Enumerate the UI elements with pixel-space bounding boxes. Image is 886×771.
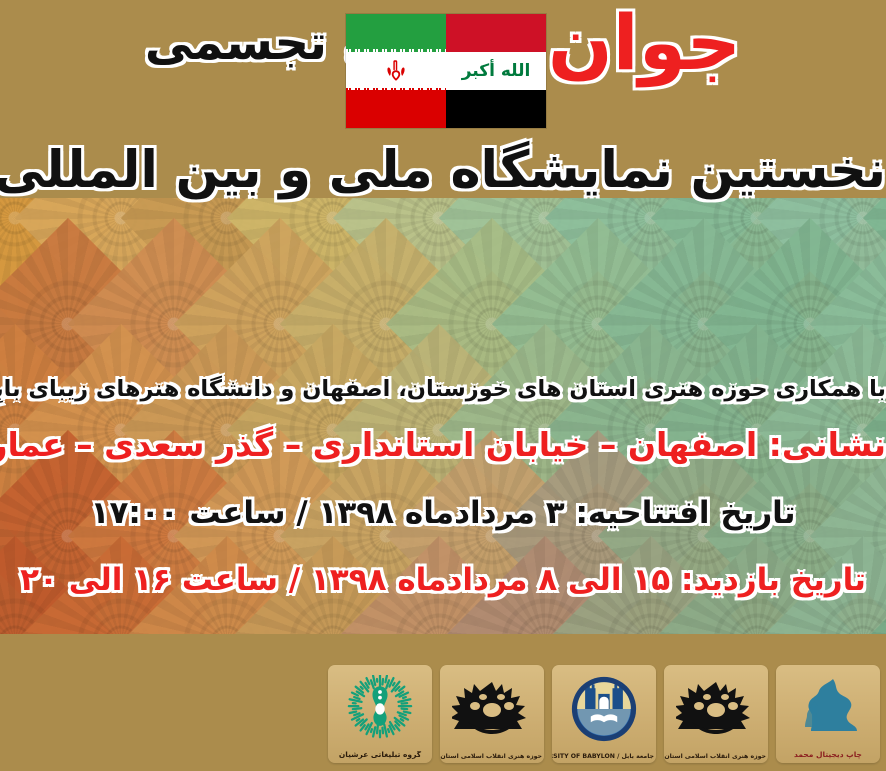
diamond-tile [545, 198, 757, 324]
logo-caption: حوزه هنری انقلاب اسلامی استان خوزستان [664, 753, 768, 760]
title-highlight-javan: جوان [548, 5, 741, 81]
diamond-tile [227, 198, 439, 324]
partners-line: با همکاری حوزه هنری استان های خوزستان، ا… [0, 378, 886, 401]
logo-card-arshian-advertising[interactable]: گروه تبلیغاتی عرشیان [328, 665, 432, 763]
sunburst-calligraphy-icon [440, 665, 544, 753]
iran-flag-kufic-bottom [346, 88, 446, 93]
iran-flag-red-band [346, 90, 446, 128]
sunburst-calligraphy-icon [664, 665, 768, 753]
iran-emblem-icon [383, 59, 409, 83]
diamond-tile [121, 198, 333, 324]
address-line: نشانی: اصفهان – خیابان استانداری – گذر س… [0, 428, 886, 461]
iran-flag-kufic-top [346, 49, 446, 54]
poster-canvas: الله أكبر نخستین نمایشگاه ملی و بین المل… [0, 0, 886, 771]
silhouette-icon [776, 665, 880, 751]
logo-card-chap-digital-mohammad[interactable]: چاپ دیجیتال محمد [776, 665, 880, 763]
sponsor-logo-strip: چاپ دیجیتال محمد حوزه هنری انقلاب اسلامی… [0, 659, 886, 771]
diamond-tile [333, 198, 545, 324]
logo-card-hozeh-honari-khuzestan[interactable]: حوزه هنری انقلاب اسلامی استان خوزستان [664, 665, 768, 763]
logo-card-university-of-babylon[interactable]: جامعة بابل / UNIVERSITY OF BABYLON [552, 665, 656, 763]
sunburst-calligraphy-icon [452, 680, 532, 738]
diamond-tile [757, 198, 886, 324]
opening-date-line: تاریخ افتتاحیه: ۳ مردادماه ۱۳۹۸ / ساعت ۱… [0, 498, 886, 529]
logo-caption: جامعة بابل / UNIVERSITY OF BABYLON [552, 753, 656, 760]
university-crest-icon [570, 675, 638, 743]
iran-flag [346, 14, 446, 128]
logo-caption: چاپ دیجیتال محمد [776, 751, 880, 760]
diamond-tile [0, 198, 121, 324]
logo-card-hozeh-honari-isfahan[interactable]: حوزه هنری انقلاب اسلامی استان اصفهان [440, 665, 544, 763]
diamond-tile [15, 198, 227, 324]
starburst-icon [343, 675, 417, 741]
iraq-flag: الله أكبر [446, 14, 546, 128]
silhouette-icon [793, 677, 863, 739]
diamond-tile [863, 198, 886, 324]
university-crest-icon [552, 665, 656, 753]
sunburst-calligraphy-icon [676, 680, 756, 738]
title-line-1: نخستین نمایشگاه ملی و بین المللی [0, 145, 886, 196]
iraq-flag-inscription: الله أكبر [446, 52, 546, 90]
logo-caption: گروه تبلیغاتی عرشیان [328, 751, 432, 760]
diamond-tile [439, 198, 651, 324]
logo-caption: حوزه هنری انقلاب اسلامی استان اصفهان [440, 753, 544, 760]
flags-banner: الله أكبر [346, 14, 546, 128]
starburst-icon [328, 665, 432, 751]
visiting-date-line: تاریخ بازدید: ۱۵ الی ۸ مردادماه ۱۳۹۸ / س… [0, 565, 886, 596]
iran-flag-green-band [346, 14, 446, 52]
iraq-flag-black-band [446, 90, 546, 128]
diamond-tile [651, 198, 863, 324]
iraq-flag-red-band [446, 14, 546, 52]
